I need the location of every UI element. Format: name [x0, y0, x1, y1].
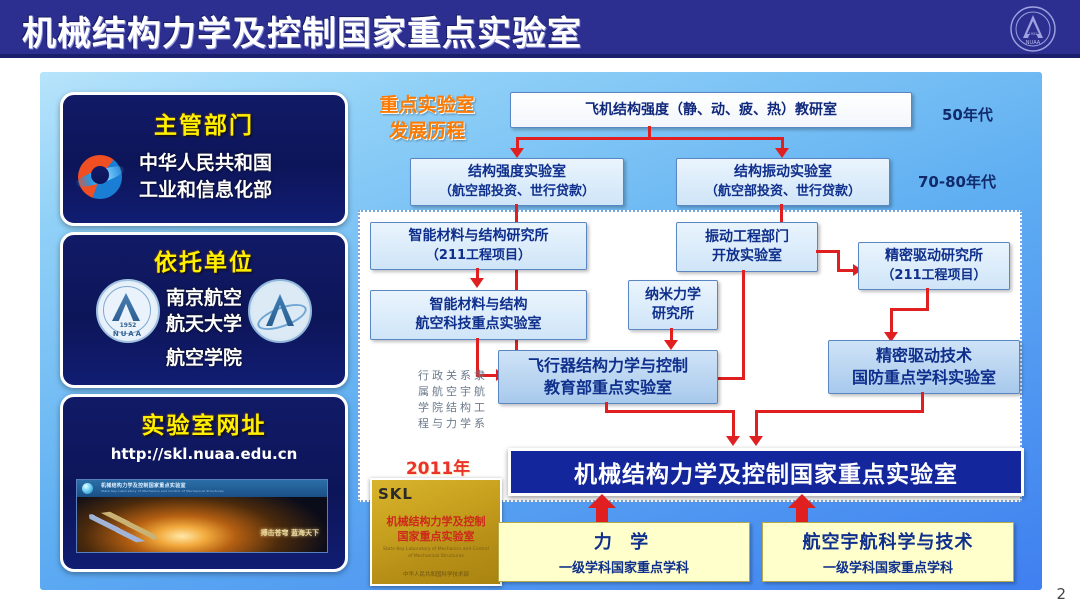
- page-title: 机械结构力学及控制国家重点实验室: [22, 6, 582, 55]
- main-laboratory-box[interactable]: 机械结构力学及控制国家重点实验室: [508, 448, 1024, 496]
- node-precision-drive-defense-lab[interactable]: 精密驱动技术 国防重点学科实验室: [828, 340, 1020, 394]
- node-structural-vibration-lab-line1: 结构振动实验室: [734, 163, 832, 182]
- arrow-head: [664, 340, 678, 350]
- node-structural-strength-lab-line2: （航空部投资、世行贷款）: [439, 182, 595, 201]
- connector: [605, 410, 735, 413]
- arrow-head: [470, 278, 484, 288]
- card-host-line3: 航空学院: [63, 343, 345, 370]
- card-dept-line2: 工业和信息化部: [139, 177, 272, 204]
- miit-logo-icon: [69, 146, 131, 208]
- node-nano-mechanics-institute[interactable]: 纳米力学 研究所: [628, 280, 718, 330]
- node-smart-material-lab-line2: 航空科技重点实验室: [416, 315, 542, 334]
- administrative-note: 行政关系隶 属航空宇航 学院结构工 程与力学系: [418, 368, 514, 432]
- page-number: 2: [1056, 585, 1066, 603]
- node-nano-mechanics-institute-line1: 纳米力学: [645, 286, 701, 305]
- website-header-bar: 机械结构力学及控制国家重点实验室 State Key Laboratory of…: [77, 480, 327, 497]
- node-vibration-open-lab-line1: 振动工程部门: [705, 228, 789, 247]
- plaque-subtitle-line1: State Key Laboratory of Mechanics and Co…: [372, 546, 500, 553]
- era-label-70-80: 70-80年代: [918, 171, 996, 192]
- card-supervising-department: 主管部门 中华人民共和国 工业和信息化部: [60, 92, 348, 226]
- plaque-title-line1: 机械结构力学及控制: [372, 514, 500, 529]
- subject-mechanics-note: 一级学科国家重点学科: [559, 557, 689, 576]
- flowchart-heading: 重点实验室 发展历程: [358, 92, 496, 144]
- card-dept-title: 主管部门: [63, 106, 345, 140]
- lab-website-url[interactable]: http://skl.nuaa.edu.cn: [63, 445, 345, 463]
- node-precision-drive-defense-lab-line1: 精密驱动技术: [876, 345, 972, 367]
- card-site-title: 实验室网址: [63, 406, 345, 440]
- card-host-content: 1952 NUAA 南京航空 航天大学: [63, 279, 345, 343]
- nuaa-seal-year: 1952: [98, 322, 158, 329]
- connector: [890, 308, 929, 311]
- node-smart-material-institute-line1: 智能材料与结构研究所: [409, 227, 549, 246]
- connector: [755, 410, 924, 413]
- subject-mechanics[interactable]: 力 学 一级学科国家重点学科: [498, 522, 750, 582]
- node-teaching-office-line1: 飞机结构强度（静、动、疲、热）教研室: [585, 101, 837, 120]
- card-host-title: 依托单位: [63, 243, 345, 277]
- node-smart-material-lab-line1: 智能材料与结构: [430, 296, 528, 315]
- nuaa-seal-name: NUAA: [98, 330, 158, 338]
- node-structural-vibration-lab-line2: （航空部投资、世行贷款）: [705, 182, 861, 201]
- nuaa-emblem-icon: NUAA 1952: [1008, 4, 1058, 54]
- nuaa-seal-icon: 1952 NUAA: [96, 279, 160, 343]
- node-teaching-office[interactable]: 飞机结构强度（静、动、疲、热）教研室: [510, 92, 912, 128]
- node-nano-mechanics-institute-line2: 研究所: [652, 305, 694, 324]
- node-structural-vibration-lab[interactable]: 结构振动实验室 （航空部投资、世行贷款）: [676, 158, 890, 206]
- card-dept-line1: 中华人民共和国: [139, 150, 272, 177]
- administrative-note-line4: 程与力学系: [418, 416, 514, 432]
- node-precision-drive-institute-line1: 精密驱动研究所: [885, 247, 983, 266]
- plaque-subtitle-line2: of Mechanical Structures: [372, 553, 500, 560]
- administrative-note-line3: 学院结构工: [418, 400, 514, 416]
- node-vibration-open-lab[interactable]: 振动工程部门 开放实验室: [676, 222, 818, 272]
- era-label-50: 50年代: [942, 104, 993, 125]
- subject-aerospace-note: 一级学科国家重点学科: [823, 557, 953, 576]
- skl-plaque-image: SKL 机械结构力学及控制 国家重点实验室 State Key Laborato…: [370, 478, 502, 586]
- node-aircraft-moe-lab-line1: 飞行器结构力学与控制: [528, 355, 688, 377]
- arrow-up-mechanics: [588, 494, 616, 524]
- connector: [921, 392, 924, 412]
- card-host-line1: 南京航空: [166, 285, 242, 311]
- website-slogan: 搏击苍穹 蓝海天下: [261, 528, 319, 538]
- svg-text:NUAA: NUAA: [1026, 40, 1041, 46]
- arrow-head: [510, 148, 524, 158]
- header-rule: [0, 54, 1080, 58]
- plaque-title: 机械结构力学及控制 国家重点实验室: [372, 514, 500, 544]
- administrative-note-line1: 行政关系隶: [418, 368, 514, 384]
- node-structural-strength-lab-line1: 结构强度实验室: [468, 163, 566, 182]
- plaque-skl-mark: SKL: [378, 485, 413, 503]
- node-smart-material-institute[interactable]: 智能材料与结构研究所 （211工程项目）: [370, 222, 587, 270]
- subject-aerospace-name: 航空宇航科学与技术: [803, 528, 974, 554]
- slide-root: 机械结构力学及控制国家重点实验室 NUAA 1952 主管部门 中华人民共: [0, 0, 1080, 607]
- node-precision-drive-defense-lab-line2: 国防重点学科实验室: [852, 367, 996, 389]
- development-flowchart: 重点实验室 发展历程 50年代 70-80年代 90年代 新世纪 飞机结构强度（…: [350, 82, 1030, 582]
- arrow-up-aerospace: [788, 494, 816, 524]
- connector: [755, 410, 758, 438]
- node-aircraft-moe-lab-line2: 教育部重点实验室: [544, 377, 672, 399]
- connector: [732, 410, 735, 438]
- node-precision-drive-institute[interactable]: 精密驱动研究所 （211工程项目）: [858, 242, 1010, 290]
- website-bar-subtitle: State Key Laboratory of Mechanics and Co…: [101, 489, 224, 493]
- node-aircraft-moe-lab[interactable]: 飞行器结构力学与控制 教育部重点实验室: [498, 350, 718, 404]
- connector: [648, 137, 784, 140]
- svg-text:1952: 1952: [1028, 32, 1037, 36]
- plaque-footer: 中华人民共和国科学技术部: [372, 570, 500, 578]
- node-smart-material-institute-line2: （211工程项目）: [426, 246, 531, 265]
- connector: [742, 270, 745, 380]
- card-host-line2: 航天大学: [166, 311, 242, 337]
- website-screenshot-thumbnail[interactable]: 机械结构力学及控制国家重点实验室 State Key Laboratory of…: [76, 479, 328, 553]
- slide-header: 机械结构力学及控制国家重点实验室 NUAA 1952: [0, 0, 1080, 58]
- flowchart-heading-line2: 发展历程: [358, 118, 496, 144]
- card-dept-content: 中华人民共和国 工业和信息化部: [63, 146, 345, 208]
- website-bar-title: 机械结构力学及控制国家重点实验室: [101, 482, 186, 489]
- college-seal-icon: [248, 279, 312, 343]
- globe-icon: [82, 483, 93, 494]
- content-board: 主管部门 中华人民共和国 工业和信息化部 依托单位 1952 NUAA: [40, 72, 1042, 590]
- node-vibration-open-lab-line2: 开放实验室: [712, 247, 782, 266]
- node-structural-strength-lab[interactable]: 结构强度实验室 （航空部投资、世行贷款）: [410, 158, 624, 206]
- card-lab-website: 实验室网址 http://skl.nuaa.edu.cn 机械结构力学及控制国家…: [60, 394, 348, 572]
- arrow-head: [775, 148, 789, 158]
- card-host-institution: 依托单位 1952 NUAA 南京航空 航天大学 航空学院: [60, 232, 348, 388]
- subject-mechanics-name: 力 学: [594, 528, 654, 554]
- subject-aerospace[interactable]: 航空宇航科学与技术 一级学科国家重点学科: [762, 522, 1014, 582]
- connector: [516, 137, 652, 140]
- year-2011-label: 2011年: [378, 454, 498, 479]
- node-smart-material-lab[interactable]: 智能材料与结构 航空科技重点实验室: [370, 290, 587, 340]
- flowchart-heading-line1: 重点实验室: [358, 92, 496, 118]
- plaque-title-line2: 国家重点实验室: [372, 529, 500, 544]
- arrow-head: [749, 436, 763, 446]
- connector: [926, 288, 929, 310]
- plaque-subtitle: State Key Laboratory of Mechanics and Co…: [372, 546, 500, 560]
- node-precision-drive-institute-line2: （211工程项目）: [881, 266, 986, 285]
- administrative-note-line2: 属航空宇航: [418, 384, 514, 400]
- connector: [890, 308, 893, 334]
- arrow-head: [726, 436, 740, 446]
- satellite-graphic: [89, 506, 157, 549]
